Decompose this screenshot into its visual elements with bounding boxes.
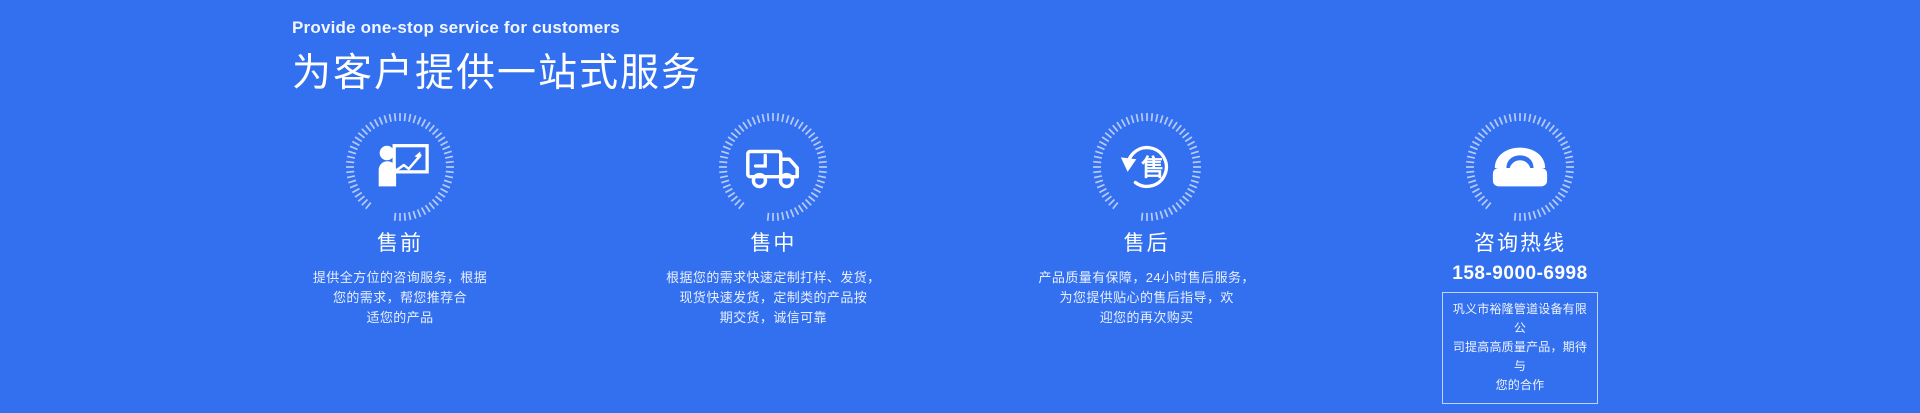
card-description: 产品质量有保障，24小时售后服务， 为您提供贴心的售后指导，欢 迎您的再次购买 [1039, 268, 1255, 328]
telephone-icon [1489, 136, 1551, 198]
card-title: 售前 [377, 228, 423, 260]
card-desc-line: 产品质量有保障，24小时售后服务， [1039, 268, 1255, 288]
card-desc-line: 您的需求，帮您推荐合 [313, 288, 487, 308]
service-card-hotline[interactable]: 咨询热线 158-9000-6998 巩义市裕隆管道设备有限公 司提高高质量产品… [1370, 112, 1670, 404]
company-info-box: 巩义市裕隆管道设备有限公 司提高高质量产品，期待与 您的合作 [1442, 292, 1598, 404]
banner-heading: Provide one-stop service for customers 为… [292, 16, 702, 102]
hotline-phone-number[interactable]: 158-9000-6998 [1452, 262, 1587, 287]
service-card-aftersale[interactable]: 售 售后 产品质量有保障，24小时售后服务， 为您提供贴心的售后指导，欢 迎您的… [997, 112, 1297, 328]
delivery-truck-icon [742, 136, 804, 198]
service-card-insale[interactable]: 售中 根据您的需求快速定制打样、发货， 现货快速发货，定制类的产品按 期交货，诚… [623, 112, 923, 328]
card-desc-line: 适您的产品 [313, 308, 487, 328]
card-description: 提供全方位的咨询服务，根据 您的需求，帮您推荐合 适您的产品 [313, 268, 487, 328]
banner-title-cn: 为客户提供一站式服务 [292, 46, 702, 103]
card-desc-line: 期交货，诚信可靠 [666, 308, 880, 328]
card-desc-line: 提供全方位的咨询服务，根据 [313, 268, 487, 288]
card-title: 售后 [1124, 228, 1170, 260]
dial-ring-hotline [1465, 112, 1575, 222]
service-card-presale[interactable]: 售前 提供全方位的咨询服务，根据 您的需求，帮您推荐合 适您的产品 [250, 112, 550, 328]
after-sales-refresh-icon: 售 [1116, 136, 1178, 198]
dial-ring-presale [345, 112, 455, 222]
svg-text:售: 售 [1141, 155, 1164, 181]
card-title: 咨询热线 [1474, 228, 1566, 260]
dial-ring-insale [718, 112, 828, 222]
company-info-line: 巩义市裕隆管道设备有限公 [1451, 300, 1589, 338]
card-description: 根据您的需求快速定制打样、发货， 现货快速发货，定制类的产品按 期交货，诚信可靠 [666, 268, 880, 328]
banner-subtitle-en: Provide one-stop service for customers [292, 16, 702, 40]
card-desc-line: 为您提供贴心的售后指导，欢 [1039, 288, 1255, 308]
card-desc-line: 迎您的再次购买 [1039, 308, 1255, 328]
card-title: 售中 [750, 228, 796, 260]
company-info-line: 您的合作 [1451, 376, 1589, 395]
presenter-whiteboard-icon [369, 136, 431, 198]
dial-ring-aftersale: 售 [1092, 112, 1202, 222]
card-desc-line: 现货快速发货，定制类的产品按 [666, 288, 880, 308]
company-info-line: 司提高高质量产品，期待与 [1451, 338, 1589, 376]
card-desc-line: 根据您的需求快速定制打样、发货， [666, 268, 880, 288]
service-cards: 售前 提供全方位的咨询服务，根据 您的需求，帮您推荐合 适您的产品 [250, 112, 1670, 404]
service-banner: Provide one-stop service for customers 为… [0, 0, 1920, 413]
